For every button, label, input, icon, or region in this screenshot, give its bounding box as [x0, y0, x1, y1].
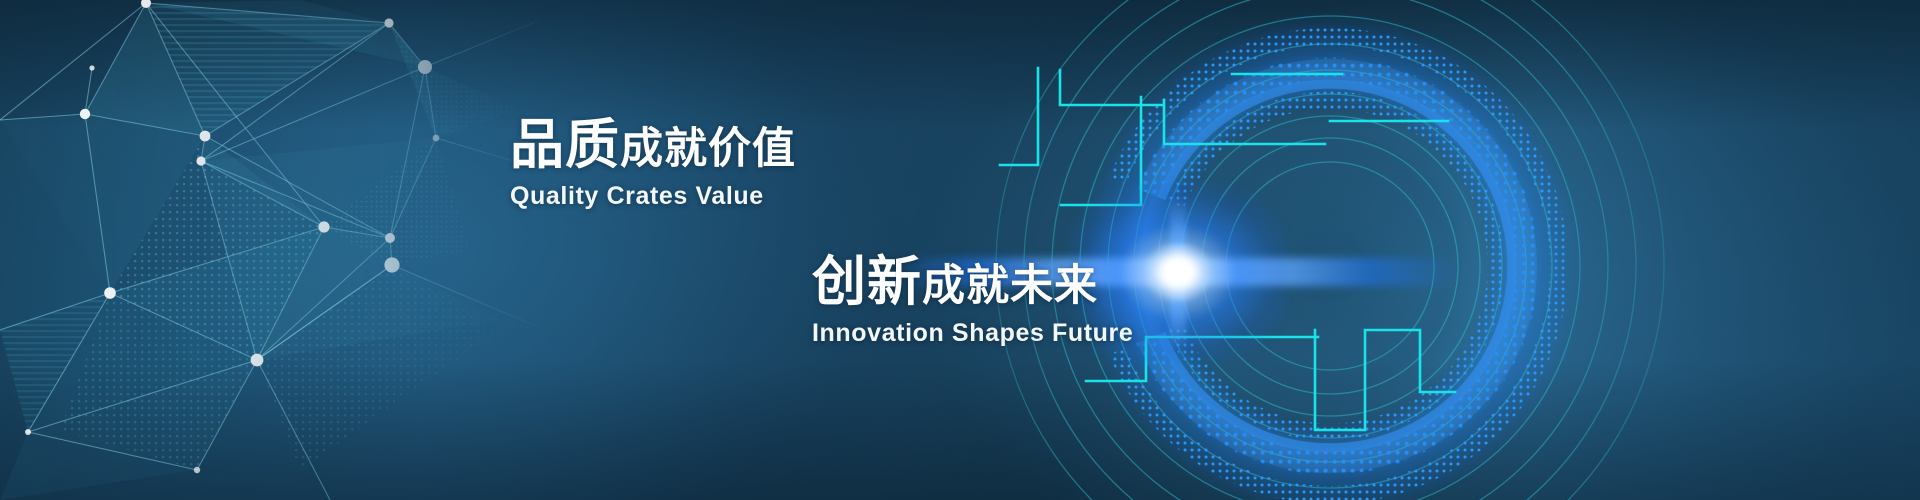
slogan-primary: 品质成就价值 Quality Crates Value: [510, 118, 796, 209]
slogan-secondary-chinese-rest: 成就未来: [922, 262, 1098, 310]
lens-flare-layer: [0, 0, 1920, 500]
flare-core: [1146, 244, 1210, 300]
slogan-primary-english: Quality Crates Value: [510, 184, 796, 209]
slogan-secondary-chinese-emphasis: 创新: [812, 252, 922, 312]
hero-banner: 品质成就价值 Quality Crates Value 创新成就未来 Innov…: [0, 0, 1920, 500]
slogan-secondary: 创新成就未来 Innovation Shapes Future: [812, 255, 1133, 346]
slogan-primary-chinese: 品质成就价值: [510, 118, 796, 172]
slogan-secondary-english: Innovation Shapes Future: [812, 321, 1133, 346]
slogan-primary-chinese-rest: 成就价值: [620, 125, 796, 173]
slogan-secondary-chinese: 创新成就未来: [812, 255, 1133, 309]
slogan-primary-chinese-emphasis: 品质: [510, 115, 620, 175]
